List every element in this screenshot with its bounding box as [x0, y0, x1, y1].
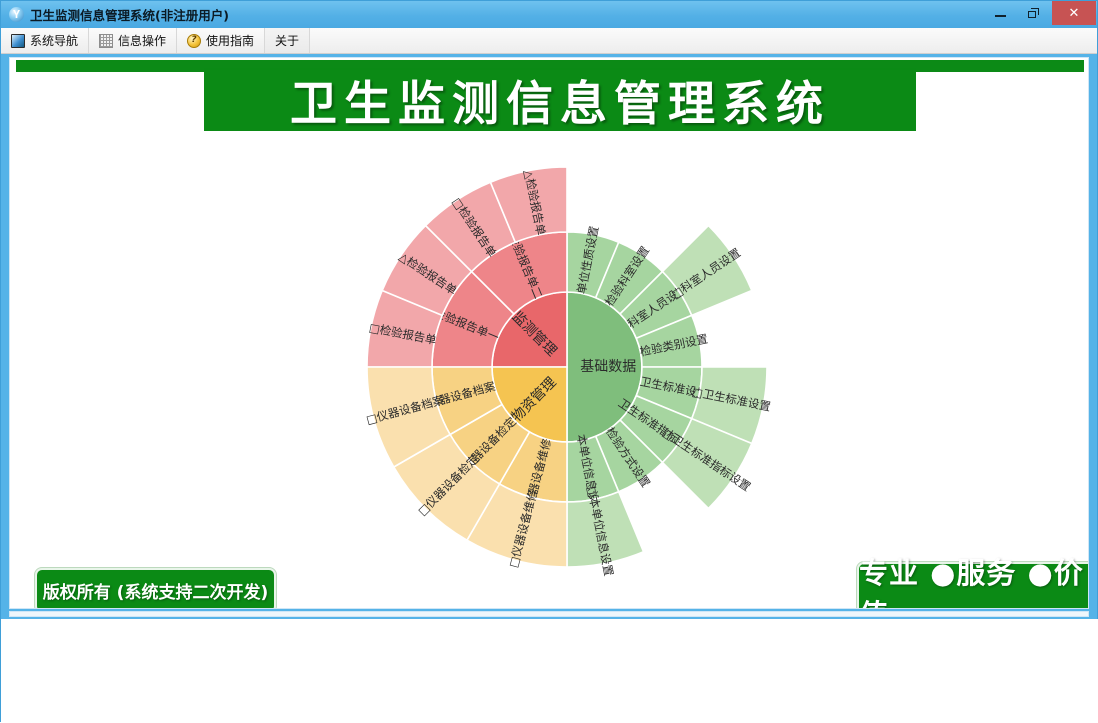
- bottom-filler: [1, 619, 1098, 723]
- close-icon: ✕: [1069, 7, 1080, 20]
- help-icon: ?: [187, 34, 201, 48]
- minimize-button[interactable]: [986, 2, 1015, 23]
- close-button[interactable]: ✕: [1052, 1, 1096, 25]
- toolbar-item-info-ops[interactable]: 信息操作: [89, 28, 177, 53]
- toolbar-item-label: 信息操作: [118, 32, 166, 49]
- title-bar: 卫生监测信息管理系统(非注册用户) ✕: [1, 1, 1097, 28]
- copyright-badge: 版权所有 (系统支持二次开发): [35, 568, 276, 609]
- app-logo-icon: [9, 7, 24, 22]
- status-strip: [9, 611, 1089, 617]
- toolbar-item-label: 使用指南: [206, 32, 254, 49]
- window-controls: ✕: [986, 1, 1097, 28]
- minimize-icon: [995, 15, 1006, 17]
- maximize-button[interactable]: [1019, 2, 1048, 23]
- toolbar-filler: [310, 28, 1097, 53]
- toolbar-item-system-nav[interactable]: 系统导航: [1, 28, 89, 53]
- client-area: 卫生监测信息管理系统 基础数据单位性质设置检验科室设置科室人员设置□科室人员设置…: [9, 57, 1089, 609]
- application-root: 卫生监测信息管理系统(非注册用户) ✕ 系统导航 信息操作: [0, 0, 1098, 722]
- sunburst-svg[interactable]: 基础数据单位性质设置检验科室设置科室人员设置□科室人员设置检验类别设置卫生标准设…: [10, 58, 1089, 609]
- sunburst-chart: 基础数据单位性质设置检验科室设置科室人员设置□科室人员设置检验类别设置卫生标准设…: [10, 58, 1089, 609]
- monitor-icon: [11, 34, 25, 48]
- maximize-icon: [1028, 8, 1039, 18]
- main-toolbar: 系统导航 信息操作 ? 使用指南 关于: [1, 28, 1097, 54]
- toolbar-item-user-guide[interactable]: ? 使用指南: [177, 28, 265, 53]
- toolbar-item-label: 系统导航: [30, 32, 78, 49]
- toolbar-item-about[interactable]: 关于: [265, 28, 310, 53]
- window-title: 卫生监测信息管理系统(非注册用户): [30, 5, 229, 24]
- slogan-badge: 专业 ●服务 ●价值: [857, 562, 1089, 609]
- main-window: 卫生监测信息管理系统(非注册用户) ✕ 系统导航 信息操作: [0, 0, 1098, 722]
- grid-icon: [99, 34, 113, 48]
- sunburst-label-l1: 基础数据: [580, 358, 636, 375]
- toolbar-item-label: 关于: [275, 32, 299, 49]
